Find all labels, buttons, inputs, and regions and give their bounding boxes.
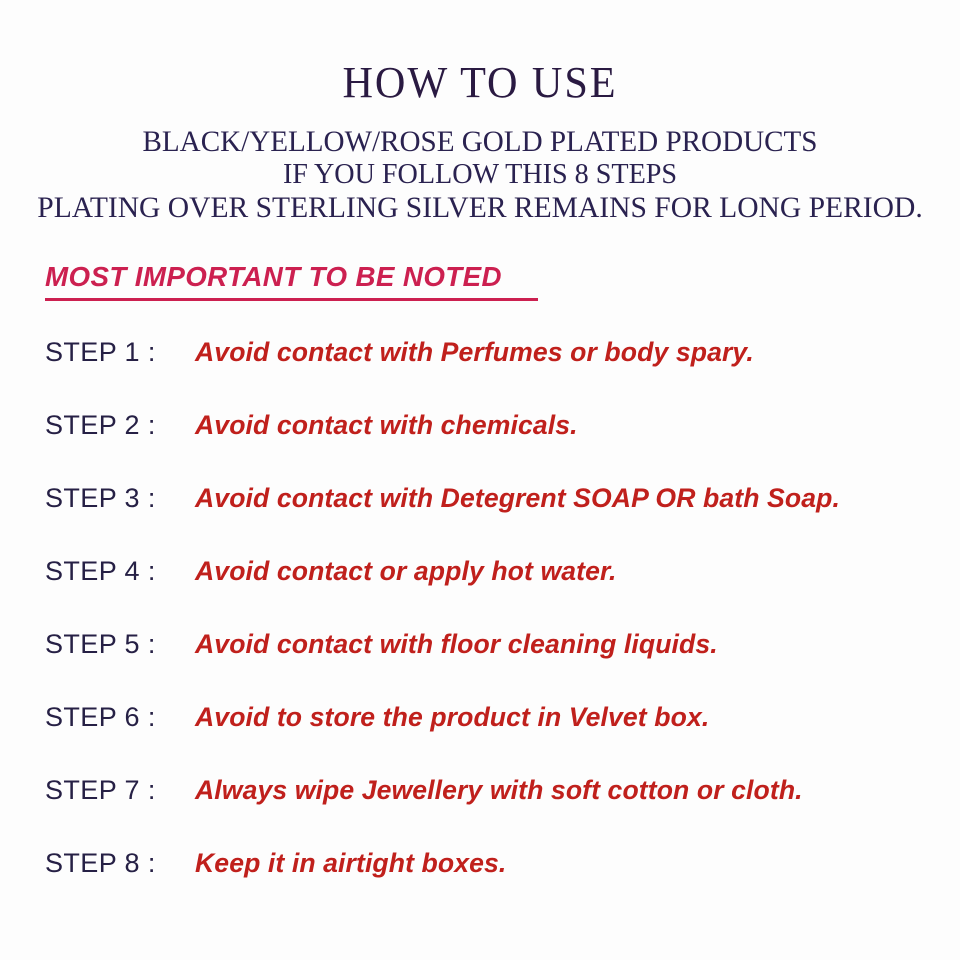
- steps-list: STEP 1 : Avoid contact with Perfumes or …: [45, 337, 960, 921]
- subtitle-block: BLACK/YELLOW/ROSE GOLD PLATED PRODUCTS I…: [0, 125, 960, 225]
- care-instructions-sheet: HOW TO USE BLACK/YELLOW/ROSE GOLD PLATED…: [0, 0, 960, 960]
- step-text: Always wipe Jewellery with soft cotton o…: [195, 775, 803, 805]
- step-label: STEP 1 :: [45, 337, 195, 367]
- step-text: Avoid contact or apply hot water.: [195, 556, 616, 586]
- subtitle-line-3: PLATING OVER STERLING SILVER REMAINS FOR…: [7, 191, 953, 225]
- step-text: Avoid contact with chemicals.: [195, 410, 578, 440]
- subtitle-line-1: BLACK/YELLOW/ROSE GOLD PLATED PRODUCTS: [14, 125, 945, 158]
- step-row: STEP 8 : Keep it in airtight boxes.: [45, 848, 960, 921]
- important-notice: MOST IMPORTANT TO BE NOTED: [45, 262, 538, 301]
- step-label: STEP 5 :: [45, 629, 195, 659]
- notice-underline-rule: [45, 298, 538, 301]
- step-row: STEP 4 : Avoid contact or apply hot wate…: [45, 556, 960, 629]
- step-text: Avoid contact with Detegrent SOAP OR bat…: [195, 483, 840, 513]
- step-text: Keep it in airtight boxes.: [195, 848, 506, 878]
- step-label: STEP 2 :: [45, 410, 195, 440]
- page-title: HOW TO USE: [19, 58, 941, 108]
- step-label: STEP 3 :: [45, 483, 195, 513]
- subtitle-line-2: IF YOU FOLLOW THIS 8 STEPS: [14, 158, 945, 191]
- step-label: STEP 6 :: [45, 702, 195, 732]
- step-label: STEP 4 :: [45, 556, 195, 586]
- step-row: STEP 6 : Avoid to store the product in V…: [45, 702, 960, 775]
- step-row: STEP 1 : Avoid contact with Perfumes or …: [45, 337, 960, 410]
- step-row: STEP 5 : Avoid contact with floor cleani…: [45, 629, 960, 702]
- step-text: Avoid contact with Perfumes or body spar…: [195, 337, 754, 367]
- header-block: HOW TO USE BLACK/YELLOW/ROSE GOLD PLATED…: [0, 58, 960, 225]
- step-text: Avoid to store the product in Velvet box…: [195, 702, 709, 732]
- step-text: Avoid contact with floor cleaning liquid…: [195, 629, 718, 659]
- step-label: STEP 8 :: [45, 848, 195, 878]
- step-row: STEP 3 : Avoid contact with Detegrent SO…: [45, 483, 960, 556]
- important-notice-heading: MOST IMPORTANT TO BE NOTED: [45, 262, 502, 292]
- step-row: STEP 7 : Always wipe Jewellery with soft…: [45, 775, 960, 848]
- step-row: STEP 2 : Avoid contact with chemicals.: [45, 410, 960, 483]
- step-label: STEP 7 :: [45, 775, 195, 805]
